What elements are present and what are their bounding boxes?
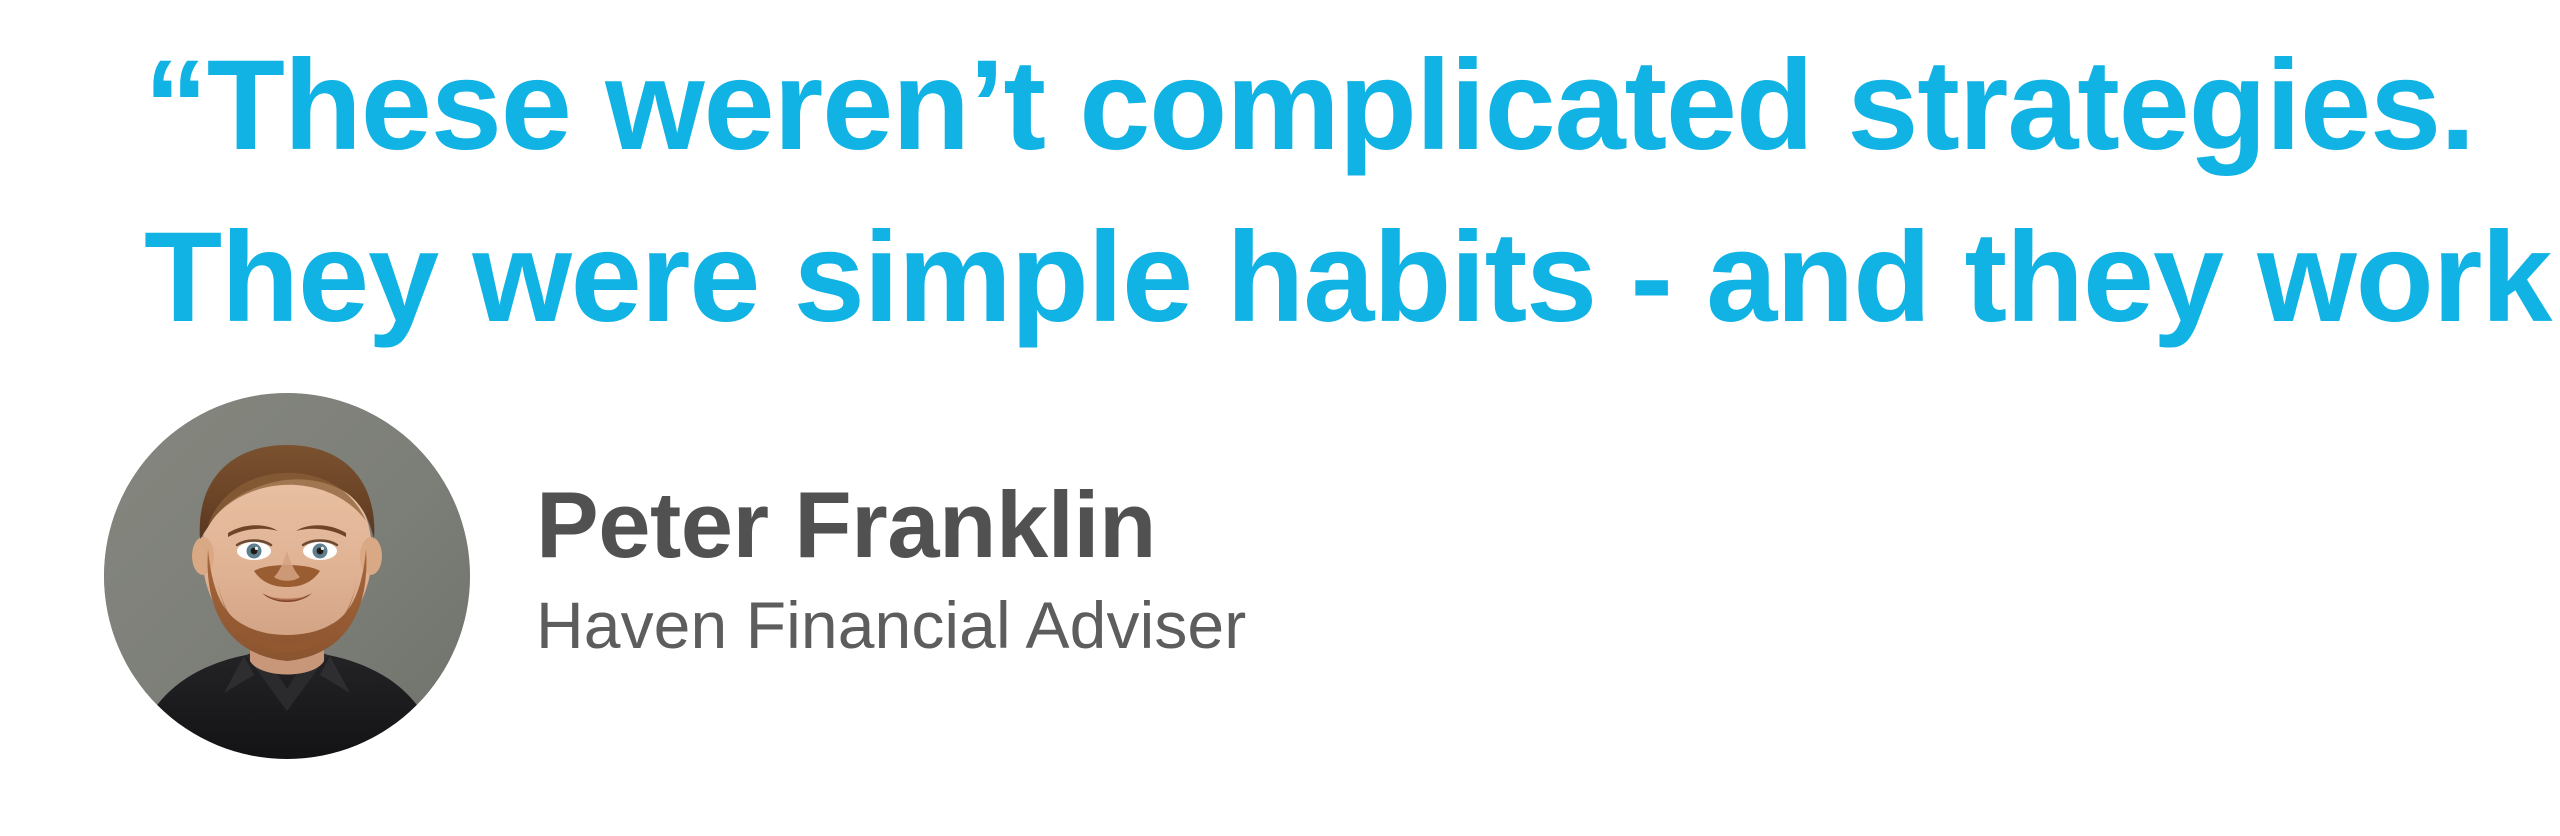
testimonial-card: “These weren’t complicated strategies. T… [0, 0, 2560, 836]
attribution-text: Peter Franklin Haven Financial Adviser [536, 393, 1246, 665]
pull-quote: “These weren’t complicated strategies. T… [144, 16, 2544, 364]
avatar [104, 393, 470, 759]
person-headshot-photo-icon [104, 393, 470, 759]
quote-line-2: They were simple habits - and they work!… [144, 192, 2544, 364]
attribution-row: Peter Franklin Haven Financial Adviser [104, 393, 1246, 759]
person-name: Peter Franklin [536, 475, 1246, 575]
person-title: Haven Financial Adviser [536, 585, 1246, 665]
quote-line-1: “These weren’t complicated strategies. [144, 16, 2544, 192]
